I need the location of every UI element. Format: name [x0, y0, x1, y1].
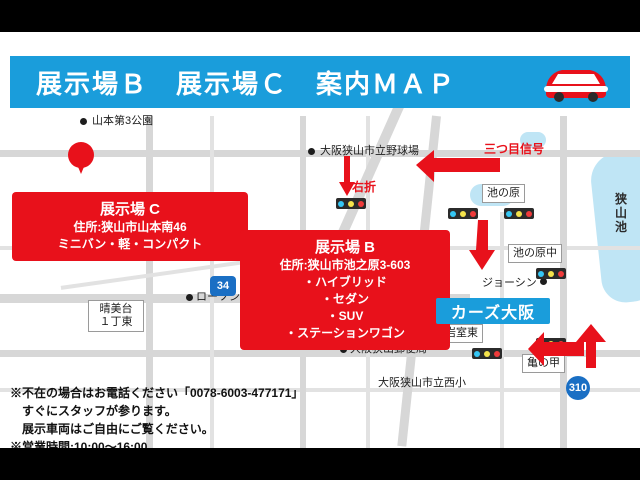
note-line-4: ※営業時間:10:00〜16:00 [10, 438, 303, 448]
callout-b-item-2: ・SUV [250, 308, 440, 325]
signal-iwamurohigashi [472, 348, 502, 359]
callout-c-detail: ミニバン・軽・コンパクト [22, 236, 238, 253]
dot-yamamoto-park [80, 118, 87, 125]
arrow-turn-right [336, 156, 358, 196]
callout-b-title: 展示場 B [250, 238, 440, 257]
label-yamamoto-park: 山本第3公園 [92, 112, 153, 128]
arrow-kamenoko-left [528, 332, 584, 366]
note-line-1: ※不在の場合はお電話ください「0078-6003-477171」 [10, 384, 303, 402]
road-vertical-far-east [560, 116, 567, 448]
road-vertical-thin3 [500, 212, 504, 448]
route-shield-34: 34 [210, 276, 236, 296]
label-joshin: ジョーシン [482, 274, 537, 290]
label-ikenohara-naka: 池の原中 [508, 244, 562, 263]
callout-c-address: 住所:狭山市山本南46 [22, 219, 238, 236]
label-baseball-stadium: 大阪狭山市立野球場 [320, 142, 419, 158]
map-screenshot: 狭山池 展示場Ｂ 展示場Ｃ 案内ＭＡＰ [0, 0, 640, 480]
letterbox-top [0, 0, 640, 32]
cars-osaka-label: カーズ大阪 [451, 299, 535, 323]
dot-baseball-stadium [308, 148, 315, 155]
callout-showroom-b: 展示場 B 住所:狭山市池之原3-603 ・ハイブリッド ・セダン ・SUV ・… [240, 230, 450, 350]
label-harumidai: 晴美台１丁東 [88, 300, 144, 332]
callout-b-item-1: ・セダン [250, 291, 440, 308]
header-banner: 展示場Ｂ 展示場Ｃ 案内ＭＡＰ [10, 56, 630, 108]
letterbox-bottom [0, 448, 640, 480]
callout-b-address: 住所:狭山市池之原3-603 [250, 257, 440, 274]
dot-lawson [186, 294, 193, 301]
car-icon [540, 60, 612, 104]
cars-osaka-banner: カーズ大阪 [436, 298, 550, 324]
route-shield-310: 310 [566, 376, 590, 400]
label-nishi-elementary: 大阪狭山市立西小 [378, 374, 466, 390]
note-line-3: 展示車両はご自由にご覧ください。 [10, 420, 303, 438]
callout-b-item-0: ・ハイブリッド [250, 274, 440, 291]
signal-ikenohara-east [504, 208, 534, 219]
page-title: 展示場Ｂ 展示場Ｃ 案内ＭＡＰ [36, 64, 456, 101]
dot-joshin [540, 278, 547, 285]
pin-showroom-c [68, 142, 94, 168]
callout-showroom-c: 展示場 C 住所:狭山市山本南46 ミニバン・軽・コンパクト [12, 192, 248, 261]
signal-turn-right [336, 198, 366, 209]
footer-note: ※不在の場合はお電話ください「0078-6003-477171」 すぐにスタッフ… [10, 384, 303, 448]
callout-b-item-3: ・ステーションワゴン [250, 325, 440, 342]
note-line-2: すぐにスタッフが参ります。 [10, 402, 303, 420]
arrow-third-signal [416, 150, 500, 190]
label-sayama-pond: 狭山池 [610, 192, 632, 234]
signal-joshin [536, 268, 566, 279]
callout-c-title: 展示場 C [22, 200, 238, 219]
map-canvas: 狭山池 展示場Ｂ 展示場Ｃ 案内ＭＡＰ [0, 32, 640, 448]
